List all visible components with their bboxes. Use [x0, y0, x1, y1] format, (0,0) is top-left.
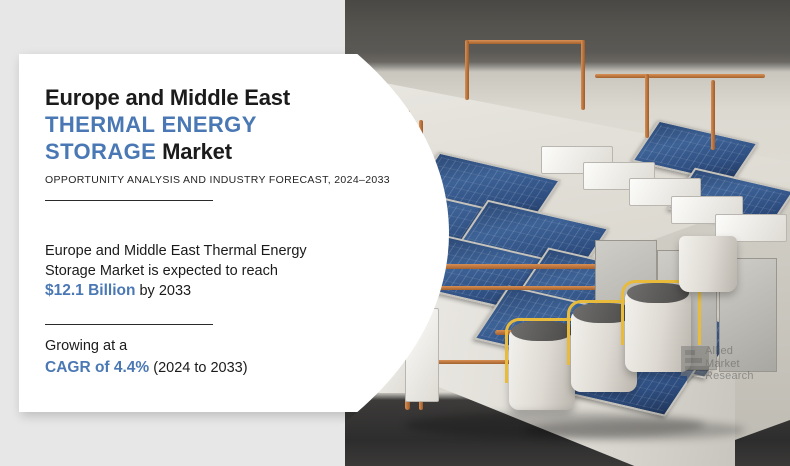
stat-divider — [45, 324, 213, 325]
watermark-line-2: Market — [705, 358, 754, 371]
title-line-2: THERMAL ENERGY — [45, 111, 385, 138]
watermark-text: Allied Market Research — [705, 345, 754, 383]
thermal-storage-tank — [679, 236, 737, 292]
title-divider — [45, 200, 213, 201]
market-value-year: by 2033 — [135, 283, 191, 299]
market-value-lead-1: Europe and Middle East Thermal Energy — [45, 243, 307, 259]
market-report-banner: Allied Market Research Europe and Middle… — [0, 0, 790, 466]
bar-chart-icon — [685, 350, 695, 355]
allied-market-research-watermark: Allied Market Research — [681, 344, 773, 386]
copper-pipe — [465, 40, 585, 44]
title-line-3: STORAGE Market — [45, 138, 385, 165]
report-title: Europe and Middle East THERMAL ENERGY ST… — [45, 84, 385, 165]
title-line-1: Europe and Middle East — [45, 84, 385, 111]
cagr-statement: Growing at a CAGR of 4.4% (2024 to 2033) — [45, 336, 385, 379]
market-value-statement: Europe and Middle East Thermal Energy St… — [45, 241, 385, 301]
copper-pipe — [465, 40, 469, 100]
cagr-lead: Growing at a — [45, 338, 127, 354]
title-line-3-rest: Market — [156, 139, 232, 164]
card-content: Europe and Middle East THERMAL ENERGY ST… — [45, 84, 385, 379]
speech-bubble-tail-icon — [687, 375, 695, 384]
copper-pipe — [711, 80, 715, 150]
copper-pipe — [581, 40, 585, 110]
market-value-figure: $12.1 Billion — [45, 282, 135, 299]
report-subtitle: OPPORTUNITY ANALYSIS AND INDUSTRY FORECA… — [45, 174, 385, 186]
watermark-line-1: Allied — [705, 345, 754, 358]
bar-chart-icon — [685, 358, 702, 363]
copper-pipe — [595, 74, 765, 78]
market-value-lead-2: Storage Market is expected to reach — [45, 263, 278, 279]
ground-shadow — [525, 420, 745, 440]
watermark-line-3: Research — [705, 370, 754, 383]
cagr-figure: CAGR of 4.4% — [45, 359, 149, 376]
cagr-period: (2024 to 2033) — [149, 360, 247, 376]
title-line-3-accent: STORAGE — [45, 139, 156, 164]
copper-pipe — [645, 74, 649, 138]
